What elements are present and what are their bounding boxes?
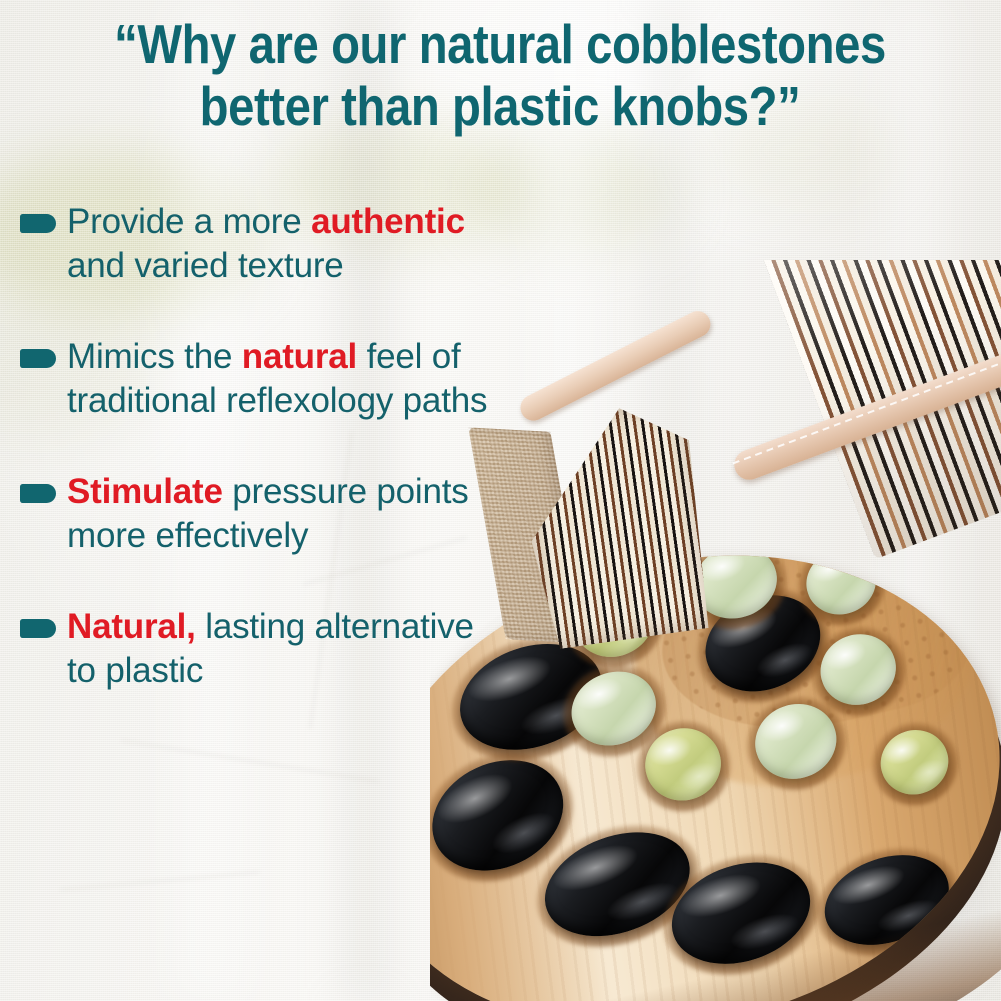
list-item: Stimulate pressure points more effective… bbox=[0, 470, 640, 559]
bullet-4-post: lasting alternative bbox=[196, 607, 474, 646]
list-item-text: Provide a more authentic and varied text… bbox=[67, 200, 640, 289]
list-item-text: Stimulate pressure points more effective… bbox=[67, 470, 640, 559]
list-item: Mimics the natural feel of traditional r… bbox=[0, 335, 640, 424]
bullet-3-emphasis: Stimulate bbox=[67, 472, 223, 511]
headline: “Why are our natural cobblestones better… bbox=[24, 18, 976, 134]
promo-infographic: “Why are our natural cobblestones better… bbox=[0, 0, 1001, 1001]
bullet-marker-icon bbox=[20, 484, 56, 503]
benefits-list: Provide a more authentic and varied text… bbox=[0, 200, 640, 740]
headline-line-2: better than plastic knobs?” bbox=[91, 80, 910, 134]
list-item: Provide a more authentic and varied text… bbox=[0, 200, 640, 289]
bullet-1-line2: and varied texture bbox=[67, 246, 344, 285]
bullet-marker-icon bbox=[20, 619, 56, 638]
bullet-3-line2: more effectively bbox=[67, 516, 308, 555]
bullet-1-emphasis: authentic bbox=[311, 202, 465, 241]
bullet-4-emphasis: Natural, bbox=[67, 607, 196, 646]
bullet-1-pre: Provide a more bbox=[67, 202, 311, 241]
bullet-2-line2: traditional reflexology paths bbox=[67, 381, 487, 420]
bullet-marker-icon bbox=[20, 214, 56, 233]
bullet-2-emphasis: natural bbox=[242, 337, 357, 376]
list-item-text: Mimics the natural feel of traditional r… bbox=[67, 335, 640, 424]
list-item: Natural, lasting alternative to plastic bbox=[0, 605, 640, 694]
bullet-marker-icon bbox=[20, 349, 56, 368]
headline-line-1: “Why are our natural cobblestones bbox=[91, 18, 910, 72]
bullet-3-post: pressure points bbox=[223, 472, 469, 511]
bullet-4-line2: to plastic bbox=[67, 651, 203, 690]
bullet-2-post: feel of bbox=[357, 337, 460, 376]
bullet-2-pre: Mimics the bbox=[67, 337, 242, 376]
list-item-text: Natural, lasting alternative to plastic bbox=[67, 605, 640, 694]
